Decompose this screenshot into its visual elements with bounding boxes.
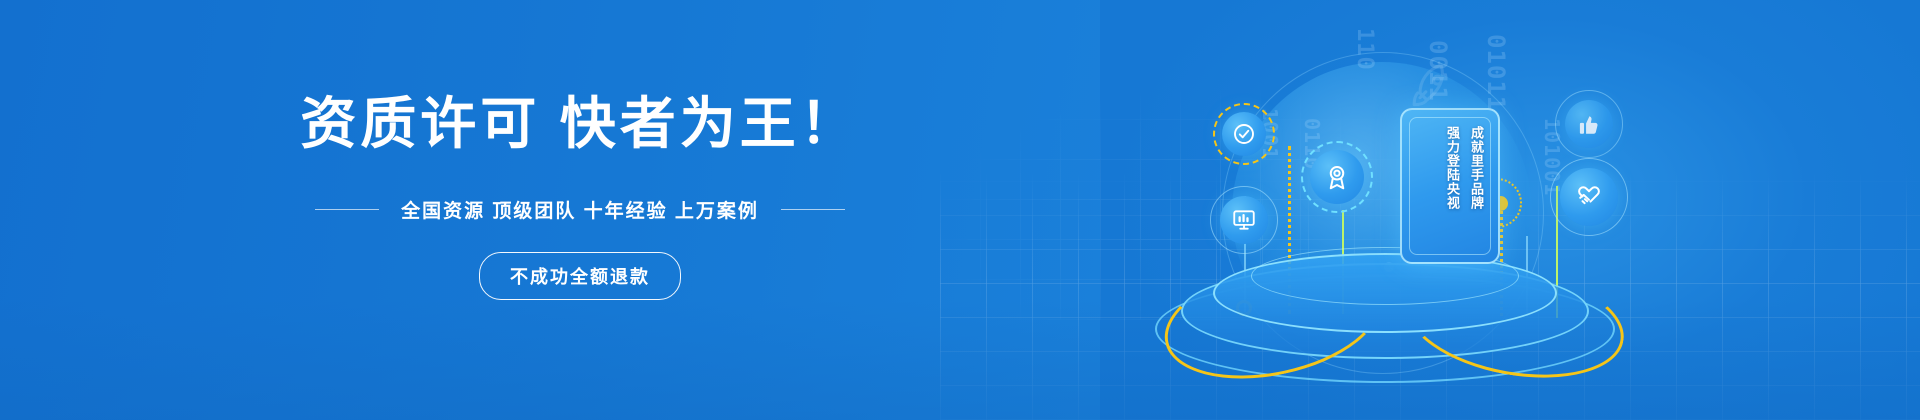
stage-platform — [1155, 245, 1615, 395]
subtitle-row: 全国资源 顶级团队 十年经验 上万案例 — [0, 196, 1160, 223]
banner-copy: 资质许可 快者为王！ 全国资源 顶级团队 十年经验 上万案例 不成功全额退款 — [0, 0, 1160, 420]
cta-wrapper: 不成功全额退款 — [0, 252, 1160, 300]
promo-banner: 110 0011 01011 1001 0110 101001 平台 成就 — [0, 0, 1920, 420]
icon-ring-dashed-yellow — [1213, 103, 1275, 165]
tablet-card: 成就里手品牌 强力登陆央视 — [1400, 108, 1500, 264]
thumbs-up-icon — [1565, 100, 1613, 148]
tablet-slogan-right: 成就里手品牌 — [1469, 126, 1484, 210]
tablet-slogan-left: 强力登陆央视 — [1445, 126, 1460, 210]
icon-ring-solid — [1550, 158, 1628, 236]
subtitle-text: 全国资源 顶级团队 十年经验 上万案例 — [401, 196, 759, 223]
divider-right — [781, 209, 845, 210]
icon-ring-solid — [1555, 90, 1623, 158]
binary-mark: 01011 — [1482, 34, 1510, 111]
binary-mark: 110 — [1352, 28, 1377, 71]
refund-guarantee-button[interactable]: 不成功全额退款 — [479, 252, 681, 300]
handshake-heart-icon — [1560, 168, 1618, 226]
monitor-chart-icon — [1220, 196, 1268, 244]
award-medal-icon — [1310, 150, 1364, 204]
page-title: 资质许可 快者为王！ — [0, 96, 1160, 152]
divider-left — [315, 209, 379, 210]
icon-ring-solid — [1210, 186, 1278, 254]
icon-ring-dashed-cyan — [1301, 141, 1373, 213]
check-circle-icon — [1222, 112, 1266, 156]
